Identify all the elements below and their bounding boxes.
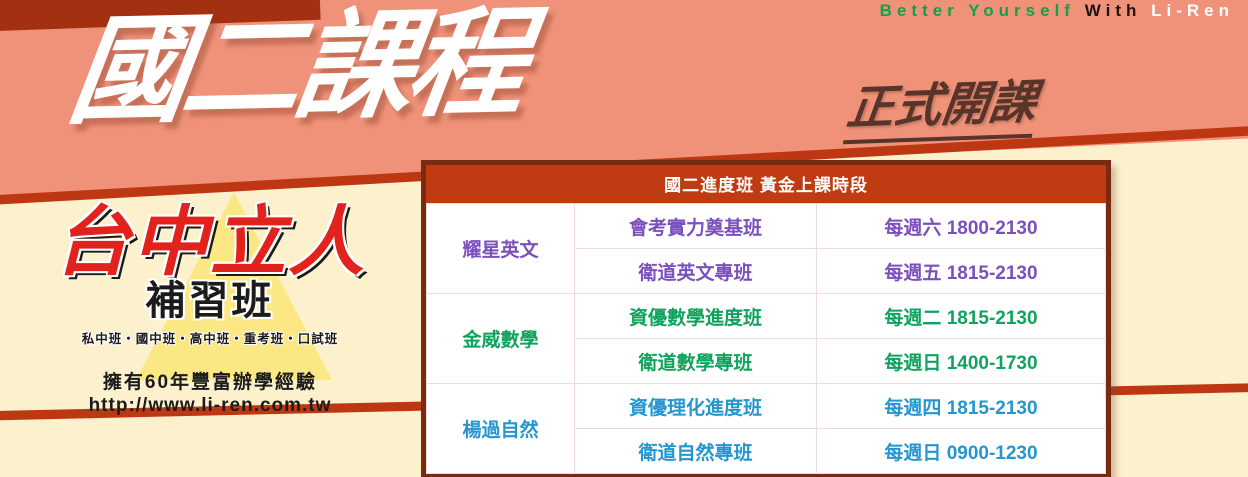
class-name-cell: 衛道自然專班 (575, 429, 817, 474)
class-name-cell: 衛道英文專班 (575, 249, 817, 294)
logo-experience: 擁有60年豐富辦學經驗 (24, 367, 396, 394)
promo-banner: Better Yourself With Li-Ren 國二課程 正式開課 台中… (0, 0, 1248, 477)
subject-cell-math: 金威數學 (427, 294, 575, 384)
subject-cell-english: 耀星英文 (427, 204, 575, 294)
class-time-cell: 每週五 1815-2130 (817, 249, 1106, 294)
schedule-table-header: 國二進度班 黃金上課時段 (426, 165, 1106, 203)
table-row: 金威數學 資優數學進度班 每週二 1815-2130 (427, 294, 1106, 339)
schedule-table-container: 國二進度班 黃金上課時段 耀星英文 會考實力奠基班 每週六 1800-2130 … (421, 160, 1111, 477)
class-time-cell: 每週日 1400-1730 (817, 339, 1106, 384)
class-name-cell: 衛道數學專班 (575, 339, 817, 384)
subject-cell-science: 楊過自然 (427, 384, 575, 474)
schedule-table: 耀星英文 會考實力奠基班 每週六 1800-2130 衛道英文專班 每週五 18… (426, 203, 1106, 474)
class-name-cell: 資優理化進度班 (575, 384, 817, 429)
class-name-cell: 會考實力奠基班 (575, 204, 817, 249)
headline-subtitle: 正式開課 (843, 63, 1041, 145)
class-time-cell: 每週二 1815-2130 (817, 294, 1106, 339)
table-row: 楊過自然 資優理化進度班 每週四 1815-2130 (427, 384, 1106, 429)
tagline-part1: Better Yourself (880, 1, 1075, 20)
tagline-part3: Li-Ren (1151, 1, 1234, 20)
class-time-cell: 每週四 1815-2130 (817, 384, 1106, 429)
logo-website-url[interactable]: http://www.li-ren.com.tw (24, 395, 396, 417)
logo-class-list: 私中班・國中班・高中班・重考班・口試班 (24, 328, 396, 347)
headline-title: 國二課程 (63, 3, 529, 130)
class-name-cell: 資優數學進度班 (575, 294, 817, 339)
logo-name-sub: 補習班 (24, 268, 396, 326)
school-logo: 台中立人 補習班 私中班・國中班・高中班・重考班・口試班 擁有60年豐富辦學經驗… (24, 196, 396, 436)
table-row: 耀星英文 會考實力奠基班 每週六 1800-2130 (427, 204, 1106, 249)
tagline: Better Yourself With Li-Ren (880, 1, 1234, 21)
tagline-part2: With (1085, 1, 1142, 20)
class-time-cell: 每週日 0900-1230 (817, 429, 1106, 474)
class-time-cell: 每週六 1800-2130 (817, 204, 1106, 249)
schedule-table-body: 耀星英文 會考實力奠基班 每週六 1800-2130 衛道英文專班 每週五 18… (427, 204, 1106, 474)
